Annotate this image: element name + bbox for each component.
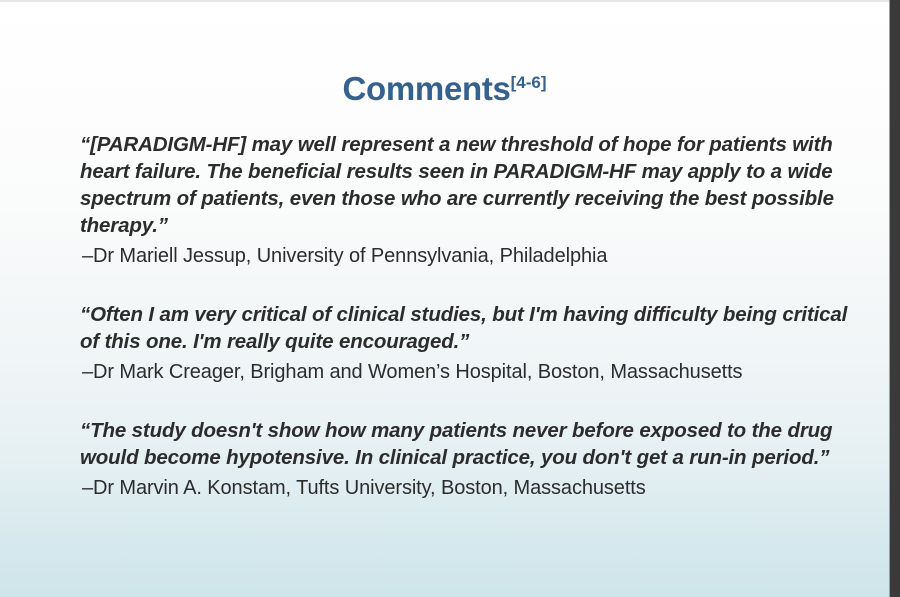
comment-quote-text: “Often I am very critical of clinical st…	[0, 301, 889, 355]
top-edge-divider	[0, 0, 900, 2]
page-title-reference-superscript: [4-6]	[511, 73, 547, 92]
comment-attribution: –Dr Mariell Jessup, University of Pennsy…	[0, 243, 889, 270]
page-title-text: Comments	[342, 70, 510, 107]
comment-item: “[PARADIGM-HF] may well represent a new …	[0, 131, 889, 270]
page-title: Comments[4-6]	[0, 70, 889, 108]
comment-quote-text: “The study doesn't show how many patient…	[0, 417, 889, 471]
comment-item: “The study doesn't show how many patient…	[0, 417, 889, 502]
slide-canvas: Comments[4-6] “[PARADIGM-HF] may well re…	[0, 0, 900, 597]
right-edge-bar	[889, 0, 900, 597]
comment-quote-text: “[PARADIGM-HF] may well represent a new …	[0, 131, 889, 239]
comment-item: “Often I am very critical of clinical st…	[0, 301, 889, 386]
comment-attribution: –Dr Marvin A. Konstam, Tufts University,…	[0, 475, 889, 502]
comments-list: “[PARADIGM-HF] may well represent a new …	[0, 131, 889, 502]
comment-attribution: –Dr Mark Creager, Brigham and Women’s Ho…	[0, 359, 889, 386]
